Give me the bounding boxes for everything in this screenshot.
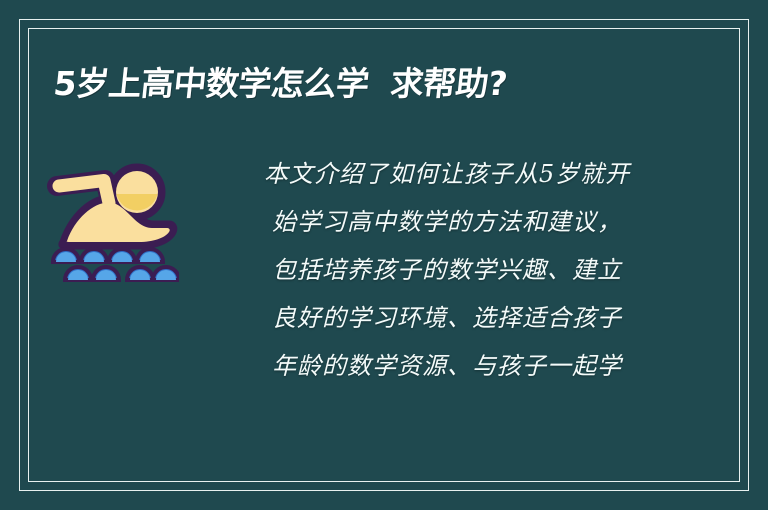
icon-container [28, 150, 198, 282]
content-row: 本文介绍了如何让孩子从5岁就开 始学习高中数学的方法和建议， 包括培养孩子的数学… [28, 150, 740, 410]
body-line: 包括培养孩子的数学兴趣、建立 [202, 246, 692, 294]
body-text-block: 本文介绍了如何让孩子从5岁就开 始学习高中数学的方法和建议， 包括培养孩子的数学… [198, 150, 740, 390]
body-line: 始学习高中数学的方法和建议， [202, 198, 692, 246]
body-line: 本文介绍了如何让孩子从5岁就开 [202, 150, 692, 198]
body-line: 良好的学习环境、选择适合孩子 [202, 294, 692, 342]
wave-row-2 [65, 267, 179, 280]
poster-card: 5岁上高中数学怎么学 求帮助? [0, 0, 768, 510]
wave-row-1 [53, 249, 163, 262]
page-title: 5岁上高中数学怎么学 求帮助? [51, 62, 716, 106]
body-line: 年龄的数学资源、与孩子一起学 [202, 342, 692, 390]
swimmer-icon [47, 158, 179, 282]
